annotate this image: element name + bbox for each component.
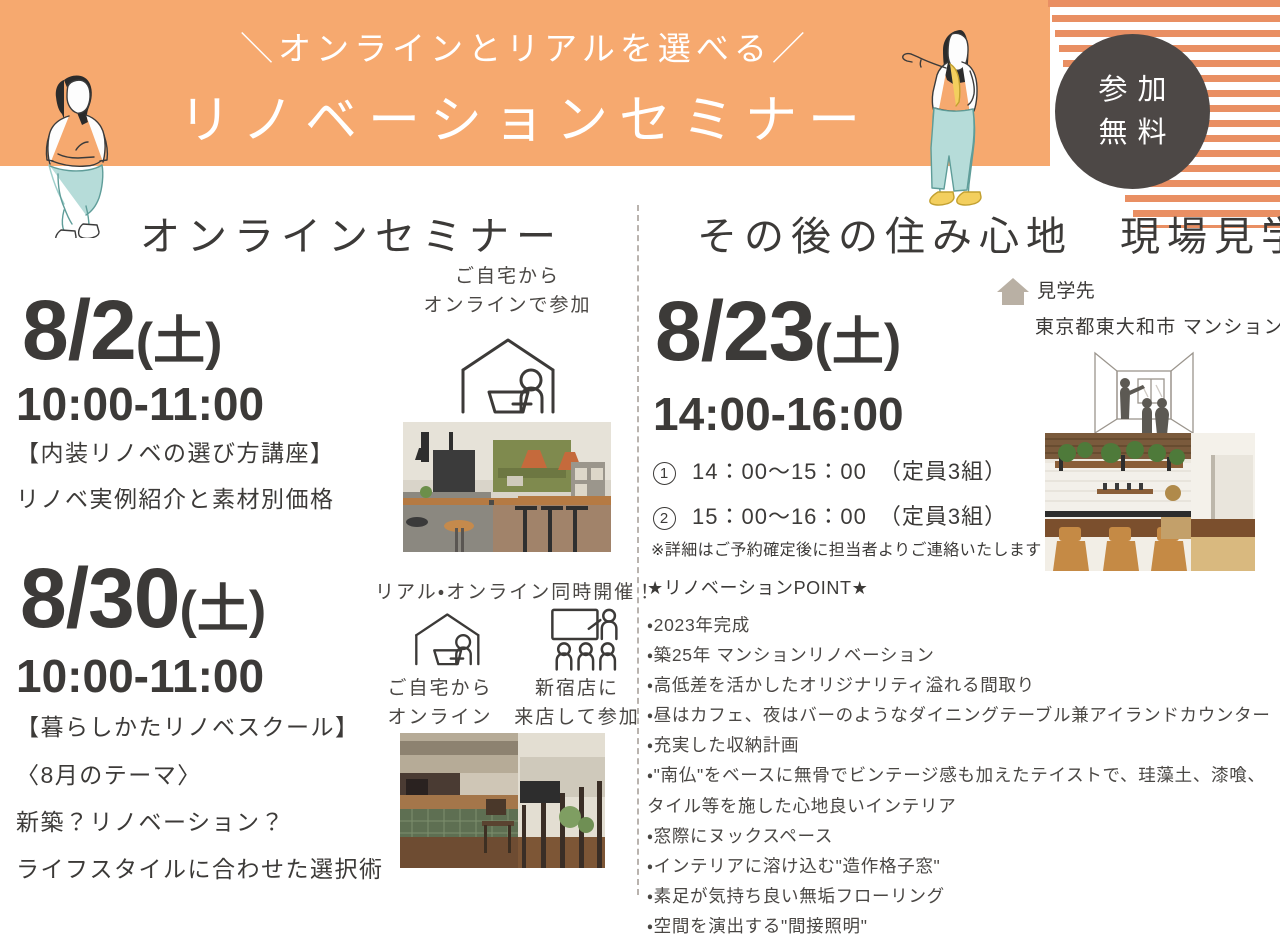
tour-slot-2: 215：00〜16：00 （定員3組） xyxy=(653,506,1007,530)
event2-subject: 【暮らしかたリノベスクール】 xyxy=(16,716,359,739)
event1-dayofweek: (土) xyxy=(136,313,223,371)
event2-detail-2: ライフスタイルに合わせた選択術 xyxy=(16,858,384,881)
store-visit-caption: 新宿店に 来店して参加 xyxy=(512,674,642,733)
point-item: ・昼はカフェ、夜はバーのようなダイニングテーブル兼アイランドカウンター xyxy=(647,700,1279,730)
stripe-line xyxy=(1048,0,1280,7)
event2-theme-label: 〈8月のテーマ〉 xyxy=(16,764,202,787)
home-online-icon xyxy=(453,332,565,422)
event2-time: 10:00-11:00 xyxy=(16,653,264,699)
event1-date: 8/2 xyxy=(22,283,136,377)
point-item: ・窓際にヌックスペース xyxy=(647,821,1279,851)
seated-woman-illustration xyxy=(28,58,136,238)
store-visit-caption-line2: 来店して参加 xyxy=(512,703,642,732)
free-admission-badge: 参加 無料 xyxy=(1055,34,1210,189)
tour-date-block: 8/23(土) xyxy=(655,289,901,373)
tour-slot-2-text: 15：00〜16：00 （定員3組） xyxy=(692,504,1007,529)
tour-date: 8/23 xyxy=(655,284,815,378)
stripe-line xyxy=(1055,30,1280,37)
home-online-icon-small xyxy=(407,609,489,671)
home-online-caption-line2: オンライン xyxy=(375,703,505,732)
point-item: ・素足が気持ち良い無垢フローリング xyxy=(647,881,1279,911)
badge-line-1: 参加 xyxy=(1088,69,1176,111)
event1-subject: 【内装リノベの選び方講座】 xyxy=(16,442,335,465)
tour-slot-1: 114：00〜15：00 （定員3組） xyxy=(653,461,1007,485)
left-column: オンラインセミナー 8/2(土) 10:00-11:00 【内装リノベの選び方講… xyxy=(0,196,637,905)
event2-date: 8/30 xyxy=(20,551,180,645)
point-item: ・"南仏"をベースに無骨でビンテージ感も加えたテイストで、珪藻土、漆喰、タイル等… xyxy=(647,760,1279,820)
event1-time: 10:00-11:00 xyxy=(16,381,264,427)
event2-dayofweek: (土) xyxy=(180,581,267,639)
tour-slot-1-number: 1 xyxy=(653,462,676,485)
point-item: ・充実した収納計画 xyxy=(647,730,1279,760)
event1-caption: ご自宅から オンラインで参加 xyxy=(395,262,620,321)
badge-line-2: 無料 xyxy=(1088,112,1176,154)
event1-date-block: 8/2(土) xyxy=(22,288,222,372)
renovation-points-list: ★リノベーションPOINT★ ・2023年完成 ・築25年 マンションリノベーシ… xyxy=(647,579,1279,941)
store-seminar-icon xyxy=(548,607,628,671)
tour-dayofweek: (土) xyxy=(815,314,902,372)
home-online-caption: ご自宅から オンライン xyxy=(375,674,505,733)
right-section-title: その後の住み心地 現場見学会 xyxy=(697,204,1280,262)
photo-wood-kitchen xyxy=(1045,433,1255,571)
store-visit-caption-line1: 新宿店に xyxy=(512,674,642,703)
home-online-caption-line1: ご自宅から xyxy=(375,674,505,703)
house-marker-icon xyxy=(996,276,1030,306)
tour-time: 14:00-16:00 xyxy=(653,391,904,437)
point-item: ・インテリアに溶け込む"造作格子窓" xyxy=(647,851,1279,881)
event1-detail: リノベ実例紹介と素材別価格 xyxy=(16,488,335,511)
tour-note: ※詳細はご予約確定後に担当者よりご連絡いたします xyxy=(651,543,1042,559)
simultaneous-caption: リアル・オンライン同時開催！ xyxy=(375,578,635,607)
photo-kitchen-green xyxy=(403,422,611,552)
point-item: ・2023年完成 xyxy=(647,610,1279,640)
point-item: ・築25年 マンションリノベーション xyxy=(647,640,1279,670)
flyer-page: ＼オンラインとリアルを選べる／ リノベーションセミナー 参加 無料 xyxy=(0,0,1280,905)
left-section-title: オンラインセミナー xyxy=(140,204,563,262)
point-item: ・高低差を活かしたオリジナリティ溢れる間取り xyxy=(647,670,1279,700)
stripe-line xyxy=(1052,15,1280,22)
photo-cafe-interior xyxy=(400,733,605,868)
point-item: ・空間を演出する"間接照明" xyxy=(647,911,1279,941)
standing-woman-illustration xyxy=(888,16,1006,206)
right-column: その後の住み心地 現場見学会 8/23(土) 14:00-16:00 114：0… xyxy=(639,196,1280,905)
tour-slot-1-text: 14：00〜15：00 （定員3組） xyxy=(692,459,1007,484)
tour-slot-2-number: 2 xyxy=(653,507,676,530)
event2-date-block: 8/30(土) xyxy=(20,556,266,640)
event1-caption-line2: オンラインで参加 xyxy=(395,291,620,320)
venue-address: 東京都東大和市 マンション xyxy=(1035,318,1280,337)
event2-detail-1: 新築？リノベーション？ xyxy=(16,811,285,834)
event1-caption-line1: ご自宅から xyxy=(395,262,620,291)
points-heading: ★リノベーションPOINT★ xyxy=(647,579,1279,597)
venue-label: 見学先 xyxy=(1037,282,1095,301)
site-tour-icon xyxy=(1091,349,1197,437)
